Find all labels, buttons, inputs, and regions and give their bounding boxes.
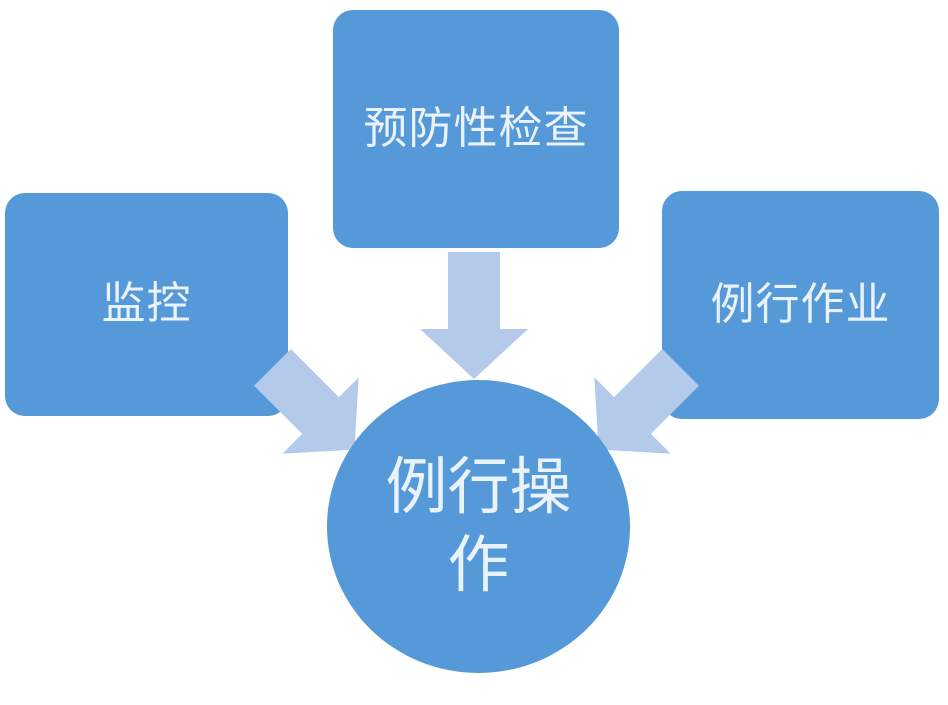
node-prevention-check[interactable]: 预防性检查 — [333, 10, 619, 248]
diagram-canvas: 预防性检查 监控 例行作业 例行操作 — [0, 0, 948, 705]
node-monitoring-label: 监控 — [102, 279, 192, 330]
node-routine-operation-label: 例行操作 — [379, 449, 579, 604]
node-routine-operation[interactable]: 例行操作 — [327, 380, 630, 673]
arrow-top — [420, 252, 528, 379]
node-routine-job[interactable]: 例行作业 — [662, 191, 939, 419]
node-routine-job-label: 例行作业 — [711, 280, 891, 331]
node-monitoring[interactable]: 监控 — [5, 193, 288, 416]
node-prevention-check-label: 预防性检查 — [364, 104, 589, 155]
